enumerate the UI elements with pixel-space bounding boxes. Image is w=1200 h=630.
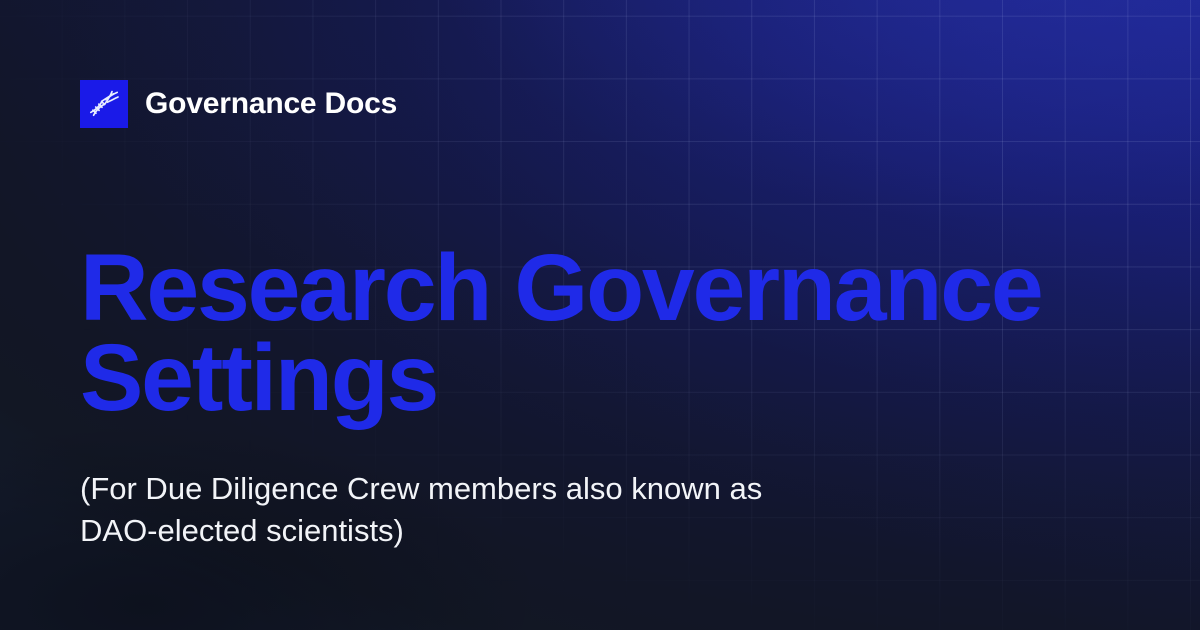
- page-title: Research Governance Settings: [80, 243, 1140, 423]
- page-subtitle: (For Due Diligence Crew members also kno…: [80, 468, 840, 552]
- og-preview-card: Governance Docs Research Governance Sett…: [0, 0, 1200, 630]
- dna-helix-icon: [80, 80, 128, 128]
- brand-lockup: Governance Docs: [80, 80, 397, 128]
- card-content: Governance Docs Research Governance Sett…: [0, 0, 1200, 630]
- brand-name: Governance Docs: [145, 89, 397, 119]
